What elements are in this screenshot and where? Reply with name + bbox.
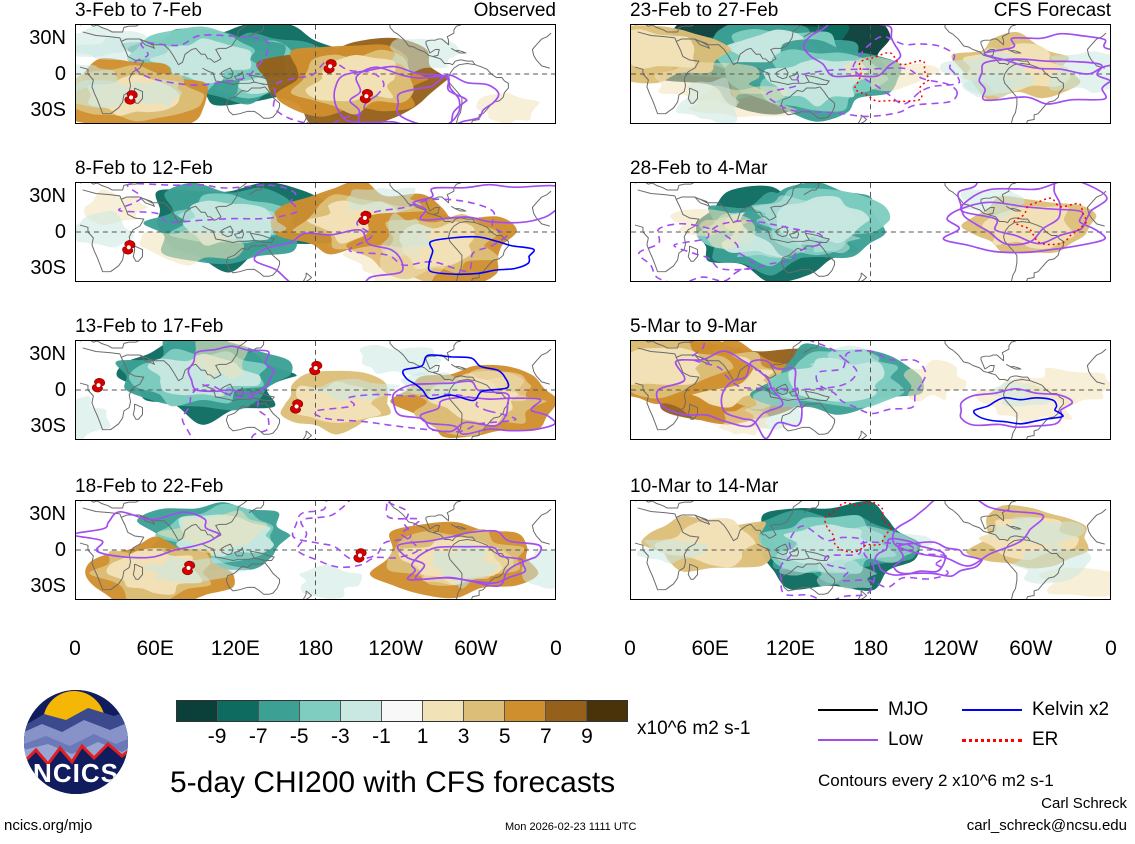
legend-label: MJO xyxy=(888,700,928,719)
x-axis-tick: 60E xyxy=(691,638,728,659)
colorbar-swatch xyxy=(382,701,423,721)
colorbar-swatch xyxy=(300,701,341,721)
colorbar-swatch xyxy=(177,701,218,721)
colorbar-swatch xyxy=(259,701,300,721)
colorbar-swatch xyxy=(546,701,587,721)
colorbar-tick-label: 5 xyxy=(499,726,511,747)
colorbar-tick-label: -5 xyxy=(290,726,309,747)
map-canvas xyxy=(630,24,1111,124)
colorbar-tick-label: 7 xyxy=(540,726,552,747)
panel-title: 10-Mar to 14-Mar xyxy=(630,477,778,496)
svg-text:NCICS: NCICS xyxy=(33,758,119,788)
colorbar-tick-label: 1 xyxy=(417,726,429,747)
map-panel: 5-Mar to 9-Mar xyxy=(630,318,1111,440)
colorbar-tick-label: -9 xyxy=(208,726,227,747)
y-axis-tick-30n: 30N xyxy=(4,186,66,206)
x-axis-tick: 0 xyxy=(69,638,81,659)
colorbar-swatch xyxy=(464,701,505,721)
site-url[interactable]: ncics.org/mjo xyxy=(4,818,92,833)
map-panel: 8-Feb to 12-Feb xyxy=(75,160,556,282)
y-axis-tick-30n: 30N xyxy=(4,28,66,48)
x-axis-tick: 180 xyxy=(298,638,333,659)
map-canvas xyxy=(75,24,556,124)
x-axis-tick: 120E xyxy=(766,638,815,659)
legend-line-kelvin-x2 xyxy=(962,709,1022,711)
map-panel: 3-Feb to 7-FebObserved xyxy=(75,2,556,124)
panel-corner-label: CFS Forecast xyxy=(994,1,1111,20)
author-email: carl_schreck@ncsu.edu xyxy=(967,818,1127,833)
map-panel: 23-Feb to 27-FebCFS Forecast xyxy=(630,2,1111,124)
y-axis-tick-30s: 30S xyxy=(4,258,66,278)
y-axis-tick-30n: 30N xyxy=(4,504,66,524)
colorbar-tick-label: 9 xyxy=(581,726,593,747)
panel-title: 5-Mar to 9-Mar xyxy=(630,317,757,336)
x-axis-tick: 60W xyxy=(454,638,497,659)
panel-title: 3-Feb to 7-Feb xyxy=(75,1,202,20)
legend-line-er xyxy=(962,739,1022,742)
colorbar-tick-label: 3 xyxy=(458,726,470,747)
y-axis-tick-0: 0 xyxy=(4,380,66,400)
x-axis-tick: 120E xyxy=(211,638,260,659)
panel-title: 18-Feb to 22-Feb xyxy=(75,477,223,496)
panel-title: 8-Feb to 12-Feb xyxy=(75,159,213,178)
contour-note: Contours every 2 x10^6 m2 s-1 xyxy=(818,772,1054,789)
colorbar-swatch xyxy=(423,701,464,721)
legend-label: Kelvin x2 xyxy=(1032,700,1109,719)
colorbar-tick-label: -1 xyxy=(372,726,391,747)
panel-grid: 3-Feb to 7-FebObserved 23-Feb to 27-FebC… xyxy=(0,0,1135,630)
legend-label: ER xyxy=(1032,730,1058,749)
x-axis-tick: 120W xyxy=(923,638,978,659)
map-panel: 18-Feb to 22-Feb xyxy=(75,478,556,600)
main-title: 5-day CHI200 with CFS forecasts xyxy=(170,768,615,798)
map-panel: 10-Mar to 14-Mar xyxy=(630,478,1111,600)
x-axis-tick: 120W xyxy=(368,638,423,659)
map-canvas xyxy=(75,340,556,440)
colorbar-tick-label: -7 xyxy=(249,726,268,747)
y-axis-tick-30s: 30S xyxy=(4,416,66,436)
map-panel: 28-Feb to 4-Mar xyxy=(630,160,1111,282)
map-canvas xyxy=(630,500,1111,600)
x-axis-tick: 0 xyxy=(1105,638,1117,659)
legend-label: Low xyxy=(888,730,923,749)
colorbar-swatch xyxy=(587,701,627,721)
panel-title: 23-Feb to 27-Feb xyxy=(630,1,778,20)
colorbar-swatch xyxy=(505,701,546,721)
x-axis-tick: 180 xyxy=(853,638,888,659)
y-axis-tick-30n: 30N xyxy=(4,344,66,364)
map-canvas xyxy=(630,182,1111,282)
ncics-logo[interactable]: NCICS xyxy=(18,686,142,804)
legend-line-mjo xyxy=(818,709,878,711)
y-axis-tick-0: 0 xyxy=(4,64,66,84)
colorbar xyxy=(176,700,628,722)
x-axis-tick: 60E xyxy=(136,638,173,659)
map-panel: 13-Feb to 17-Feb xyxy=(75,318,556,440)
colorbar-swatch xyxy=(218,701,259,721)
y-axis-tick-0: 0 xyxy=(4,540,66,560)
colorbar-tick-label: -3 xyxy=(331,726,350,747)
map-canvas xyxy=(75,500,556,600)
legend-line-low xyxy=(818,739,878,741)
panel-corner-label: Observed xyxy=(474,1,556,20)
x-axis-tick: 0 xyxy=(624,638,636,659)
panel-title: 13-Feb to 17-Feb xyxy=(75,317,223,336)
generation-timestamp: Mon 2026-02-23 1111 UTC xyxy=(505,822,636,833)
y-axis-tick-0: 0 xyxy=(4,222,66,242)
colorbar-swatch xyxy=(341,701,382,721)
y-axis-tick-30s: 30S xyxy=(4,100,66,120)
y-axis-tick-30s: 30S xyxy=(4,576,66,596)
map-canvas xyxy=(75,182,556,282)
map-canvas xyxy=(630,340,1111,440)
panel-title: 28-Feb to 4-Mar xyxy=(630,159,768,178)
x-axis-tick: 0 xyxy=(550,638,562,659)
author-name: Carl Schreck xyxy=(1041,796,1127,811)
colorbar-units: x10^6 m2 s-1 xyxy=(637,718,750,740)
ncics-logo-graphic: NCICS xyxy=(18,686,142,804)
x-axis-tick: 60W xyxy=(1009,638,1052,659)
